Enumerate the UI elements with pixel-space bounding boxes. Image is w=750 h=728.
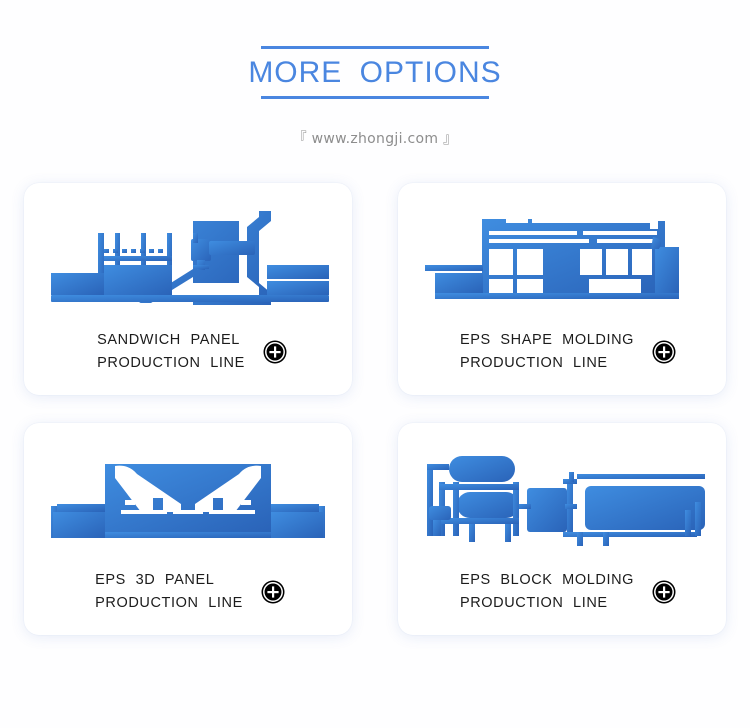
site-url-subtitle: 『 www.zhongji.com 』	[0, 128, 750, 148]
card-label: EPS 3D PANEL PRODUCTION LINE	[95, 569, 243, 615]
title-block: MORE OPTIONS	[232, 40, 517, 107]
sandwich-panel-machine-illustration	[24, 199, 352, 317]
eps-shape-molding-machine-illustration	[398, 199, 726, 317]
card-label-line1: EPS BLOCK MOLDING	[460, 569, 634, 592]
title-rule-top	[261, 46, 489, 49]
plus-circle-icon[interactable]	[263, 340, 287, 364]
card-label-line2: PRODUCTION LINE	[460, 592, 634, 615]
card-label-line2: PRODUCTION LINE	[97, 352, 245, 375]
option-card-eps-shape-molding[interactable]: EPS SHAPE MOLDING PRODUCTION LINE	[398, 183, 726, 395]
options-grid: SANDWICH PANEL PRODUCTION LINE	[24, 183, 726, 635]
option-card-eps-3d-panel[interactable]: EPS 3D PANEL PRODUCTION LINE	[24, 423, 352, 635]
card-label: EPS BLOCK MOLDING PRODUCTION LINE	[460, 569, 634, 615]
card-label: SANDWICH PANEL PRODUCTION LINE	[97, 329, 245, 375]
plus-circle-icon[interactable]	[261, 580, 285, 604]
card-label: EPS SHAPE MOLDING PRODUCTION LINE	[460, 329, 634, 375]
card-caption: SANDWICH PANEL PRODUCTION LINE	[24, 329, 352, 375]
plus-circle-icon[interactable]	[652, 580, 676, 604]
card-label-line1: SANDWICH PANEL	[97, 329, 245, 352]
more-options-page: MORE OPTIONS 『 www.zhongji.com 』	[0, 0, 750, 728]
card-label-line1: EPS 3D PANEL	[95, 569, 243, 592]
plus-circle-icon[interactable]	[652, 340, 676, 364]
option-card-sandwich-panel[interactable]: SANDWICH PANEL PRODUCTION LINE	[24, 183, 352, 395]
title-rule-bottom	[261, 96, 489, 99]
card-label-line2: PRODUCTION LINE	[460, 352, 634, 375]
card-caption: EPS BLOCK MOLDING PRODUCTION LINE	[398, 569, 726, 615]
card-label-line1: EPS SHAPE MOLDING	[460, 329, 634, 352]
card-caption: EPS 3D PANEL PRODUCTION LINE	[24, 569, 352, 615]
card-caption: EPS SHAPE MOLDING PRODUCTION LINE	[398, 329, 726, 375]
eps-block-molding-machine-illustration	[398, 439, 726, 557]
eps-3d-panel-machine-illustration	[24, 439, 352, 557]
page-title: MORE OPTIONS	[248, 56, 501, 90]
page-header: MORE OPTIONS 『 www.zhongji.com 』	[0, 0, 750, 148]
option-card-eps-block-molding[interactable]: EPS BLOCK MOLDING PRODUCTION LINE	[398, 423, 726, 635]
card-label-line2: PRODUCTION LINE	[95, 592, 243, 615]
